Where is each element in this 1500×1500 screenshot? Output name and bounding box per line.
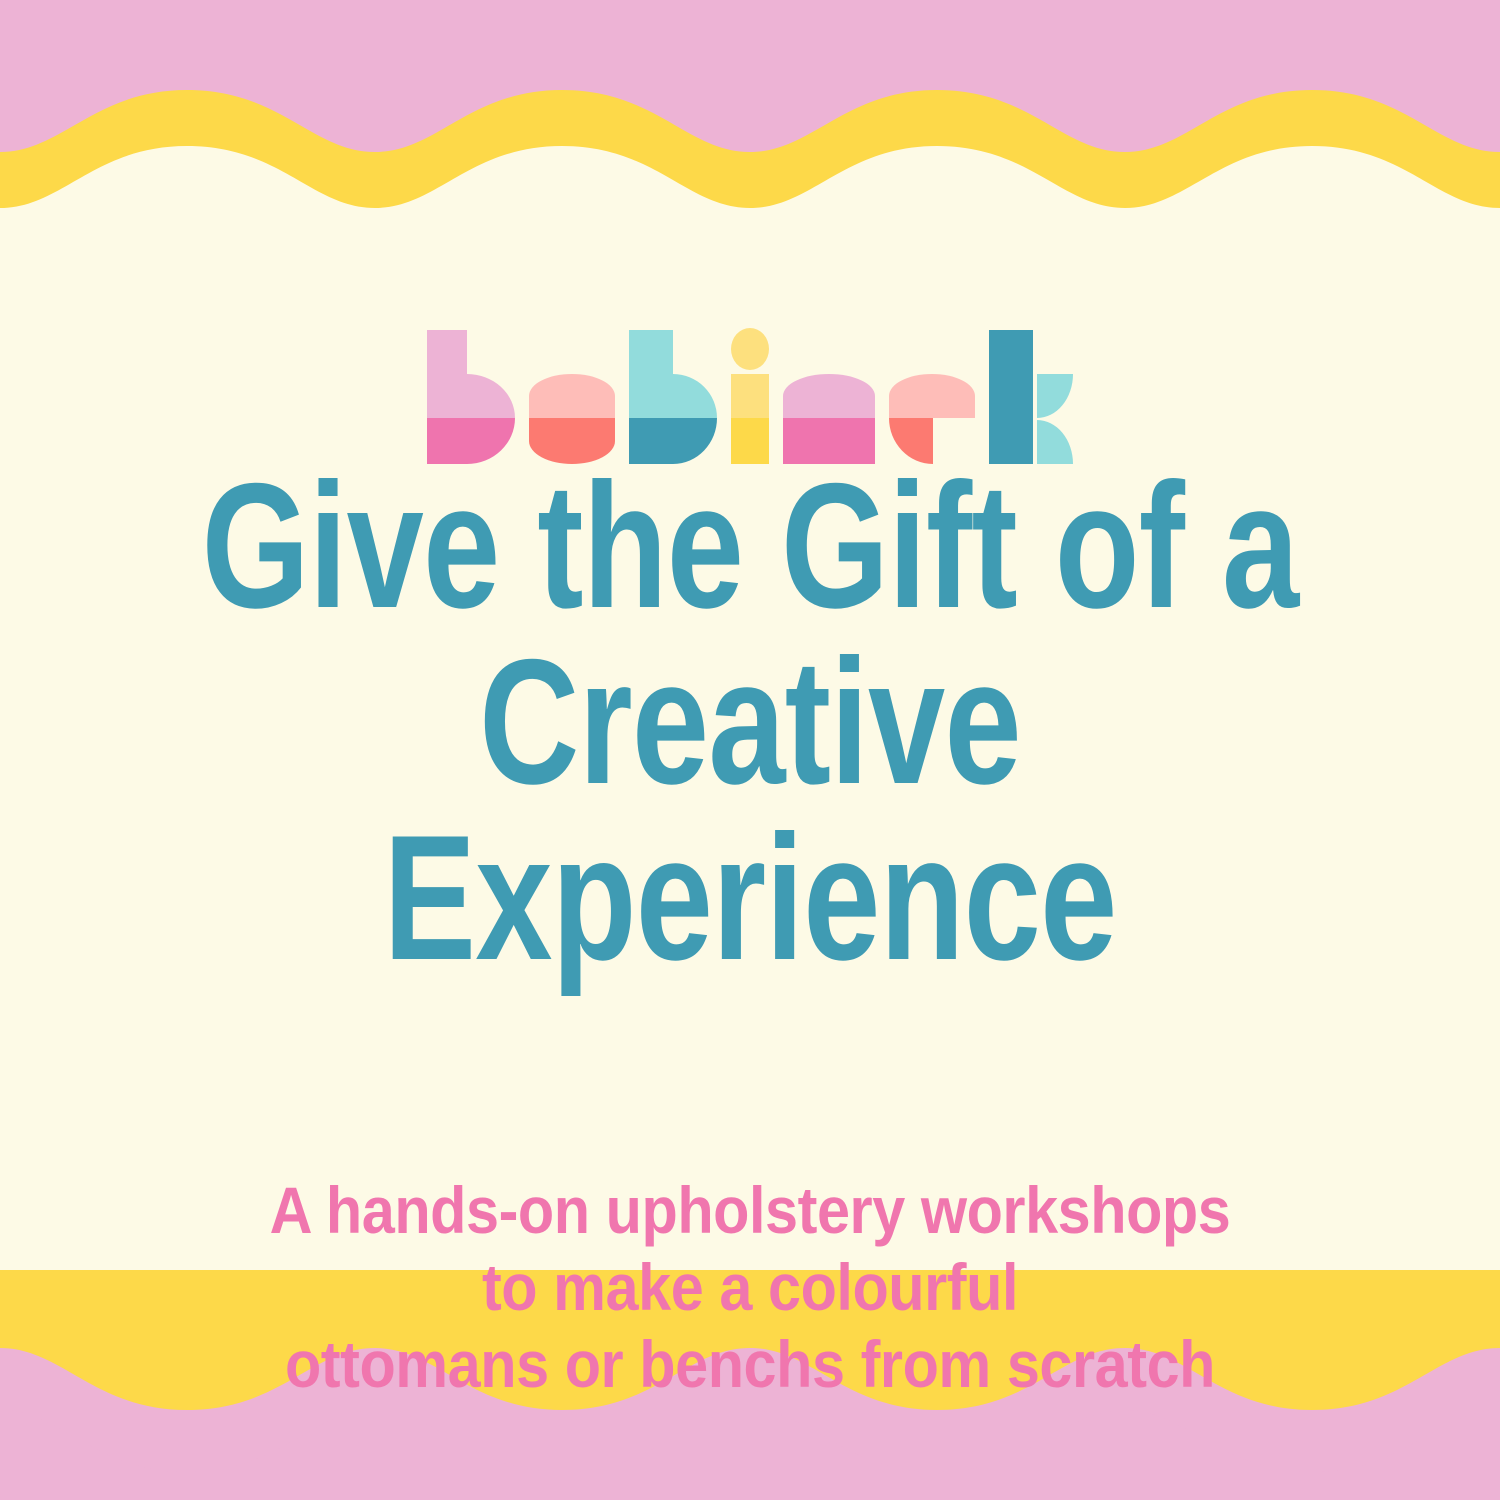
- logo-k-stem: [989, 330, 1033, 464]
- headline: Give the Gift of a Creative Experience: [196, 458, 1304, 987]
- brand-logo-bobinek: [427, 318, 1073, 436]
- logo-o-top-half: [529, 374, 615, 418]
- logo-letter-o: [529, 318, 615, 436]
- logo-letter-b-2: [629, 318, 717, 436]
- logo-b2-bowl-top: [673, 374, 717, 418]
- logo-b1-stem-top: [427, 330, 467, 418]
- subtitle: A hands-on upholstery workshops to make …: [147, 1172, 1353, 1404]
- logo-i-dot: [731, 328, 769, 370]
- poster-content: Give the Gift of a Creative Experience A…: [0, 0, 1500, 1500]
- logo-letter-i: [731, 318, 769, 436]
- logo-e-top-half: [889, 374, 975, 418]
- logo-b2-stem-top: [629, 330, 673, 418]
- logo-letter-n: [783, 318, 875, 436]
- logo-n-arch: [783, 374, 875, 418]
- logo-b1-bowl-top: [467, 374, 515, 418]
- logo-letter-e: [889, 318, 975, 436]
- promotional-poster: Give the Gift of a Creative Experience A…: [0, 0, 1500, 1500]
- logo-k-upper-quarter: [1037, 374, 1073, 418]
- logo-letter-b-1: [427, 318, 515, 436]
- logo-i-upper-block: [731, 374, 769, 418]
- logo-letter-k: [989, 318, 1073, 436]
